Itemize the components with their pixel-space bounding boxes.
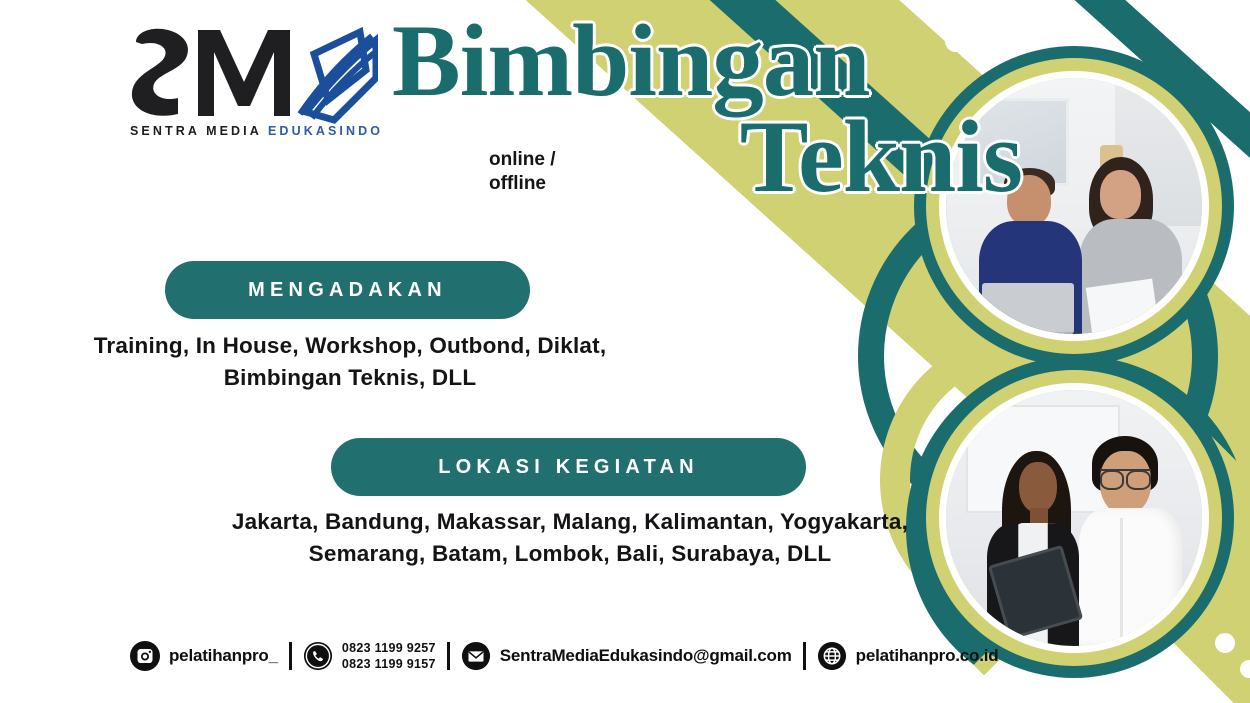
services-list: Training, In House, Workshop, Outbond, D… — [60, 330, 640, 394]
globe-icon — [817, 641, 847, 671]
brand-logo: SENTRA MEDIA EDUKASINDO — [128, 24, 388, 150]
footer-separator — [803, 642, 806, 670]
headline-line-2: Teknis — [392, 110, 1032, 206]
headline: Bimbingan Teknis — [392, 14, 1032, 206]
pill-mengadakan: MENGADAKAN — [165, 261, 530, 319]
pill-lokasi-kegiatan: LOKASI KEGIATAN — [331, 438, 806, 496]
locations-list: Jakarta, Bandung, Makassar, Malang, Kali… — [205, 506, 935, 570]
contact-footer: pelatihanpro_ 0823 1199 9257 0823 1199 9… — [130, 640, 998, 672]
logo-mark-sm-icon — [128, 24, 378, 124]
contact-website[interactable]: pelatihanpro.co.id — [817, 641, 999, 671]
mode-online: online / — [489, 148, 556, 172]
envelope-icon — [461, 641, 491, 671]
brand-subtitle: SENTRA MEDIA EDUKASINDO — [130, 124, 383, 138]
brand-subtitle-primary: SENTRA MEDIA — [130, 124, 268, 138]
promotional-banner: SENTRA MEDIA EDUKASINDO Bimbingan Teknis… — [0, 0, 1250, 703]
phone-number-1: 0823 1199 9257 — [342, 640, 436, 656]
decorative-dot — [1240, 660, 1250, 678]
footer-separator — [289, 642, 292, 670]
footer-separator — [447, 642, 450, 670]
mode-offline: offline — [489, 172, 556, 196]
email-address: SentraMediaEdukasindo@gmail.com — [500, 646, 792, 666]
phone-icon — [303, 641, 333, 671]
contact-phone[interactable]: 0823 1199 9257 0823 1199 9157 — [303, 640, 436, 672]
contact-email[interactable]: SentraMediaEdukasindo@gmail.com — [461, 641, 792, 671]
delivery-mode-text: online / offline — [489, 148, 556, 197]
office-photo-tablet — [946, 390, 1202, 646]
phone-number-2: 0823 1199 9157 — [342, 656, 436, 672]
website-url: pelatihanpro.co.id — [856, 646, 999, 666]
instagram-handle: pelatihanpro_ — [169, 646, 278, 666]
brand-subtitle-accent: EDUKASINDO — [268, 124, 383, 138]
decorative-dot — [1215, 633, 1235, 653]
contact-instagram[interactable]: pelatihanpro_ — [130, 641, 278, 671]
instagram-icon — [130, 641, 160, 671]
photo-circle-bottom — [946, 390, 1202, 646]
headline-line-1: Bimbingan — [392, 14, 1032, 110]
